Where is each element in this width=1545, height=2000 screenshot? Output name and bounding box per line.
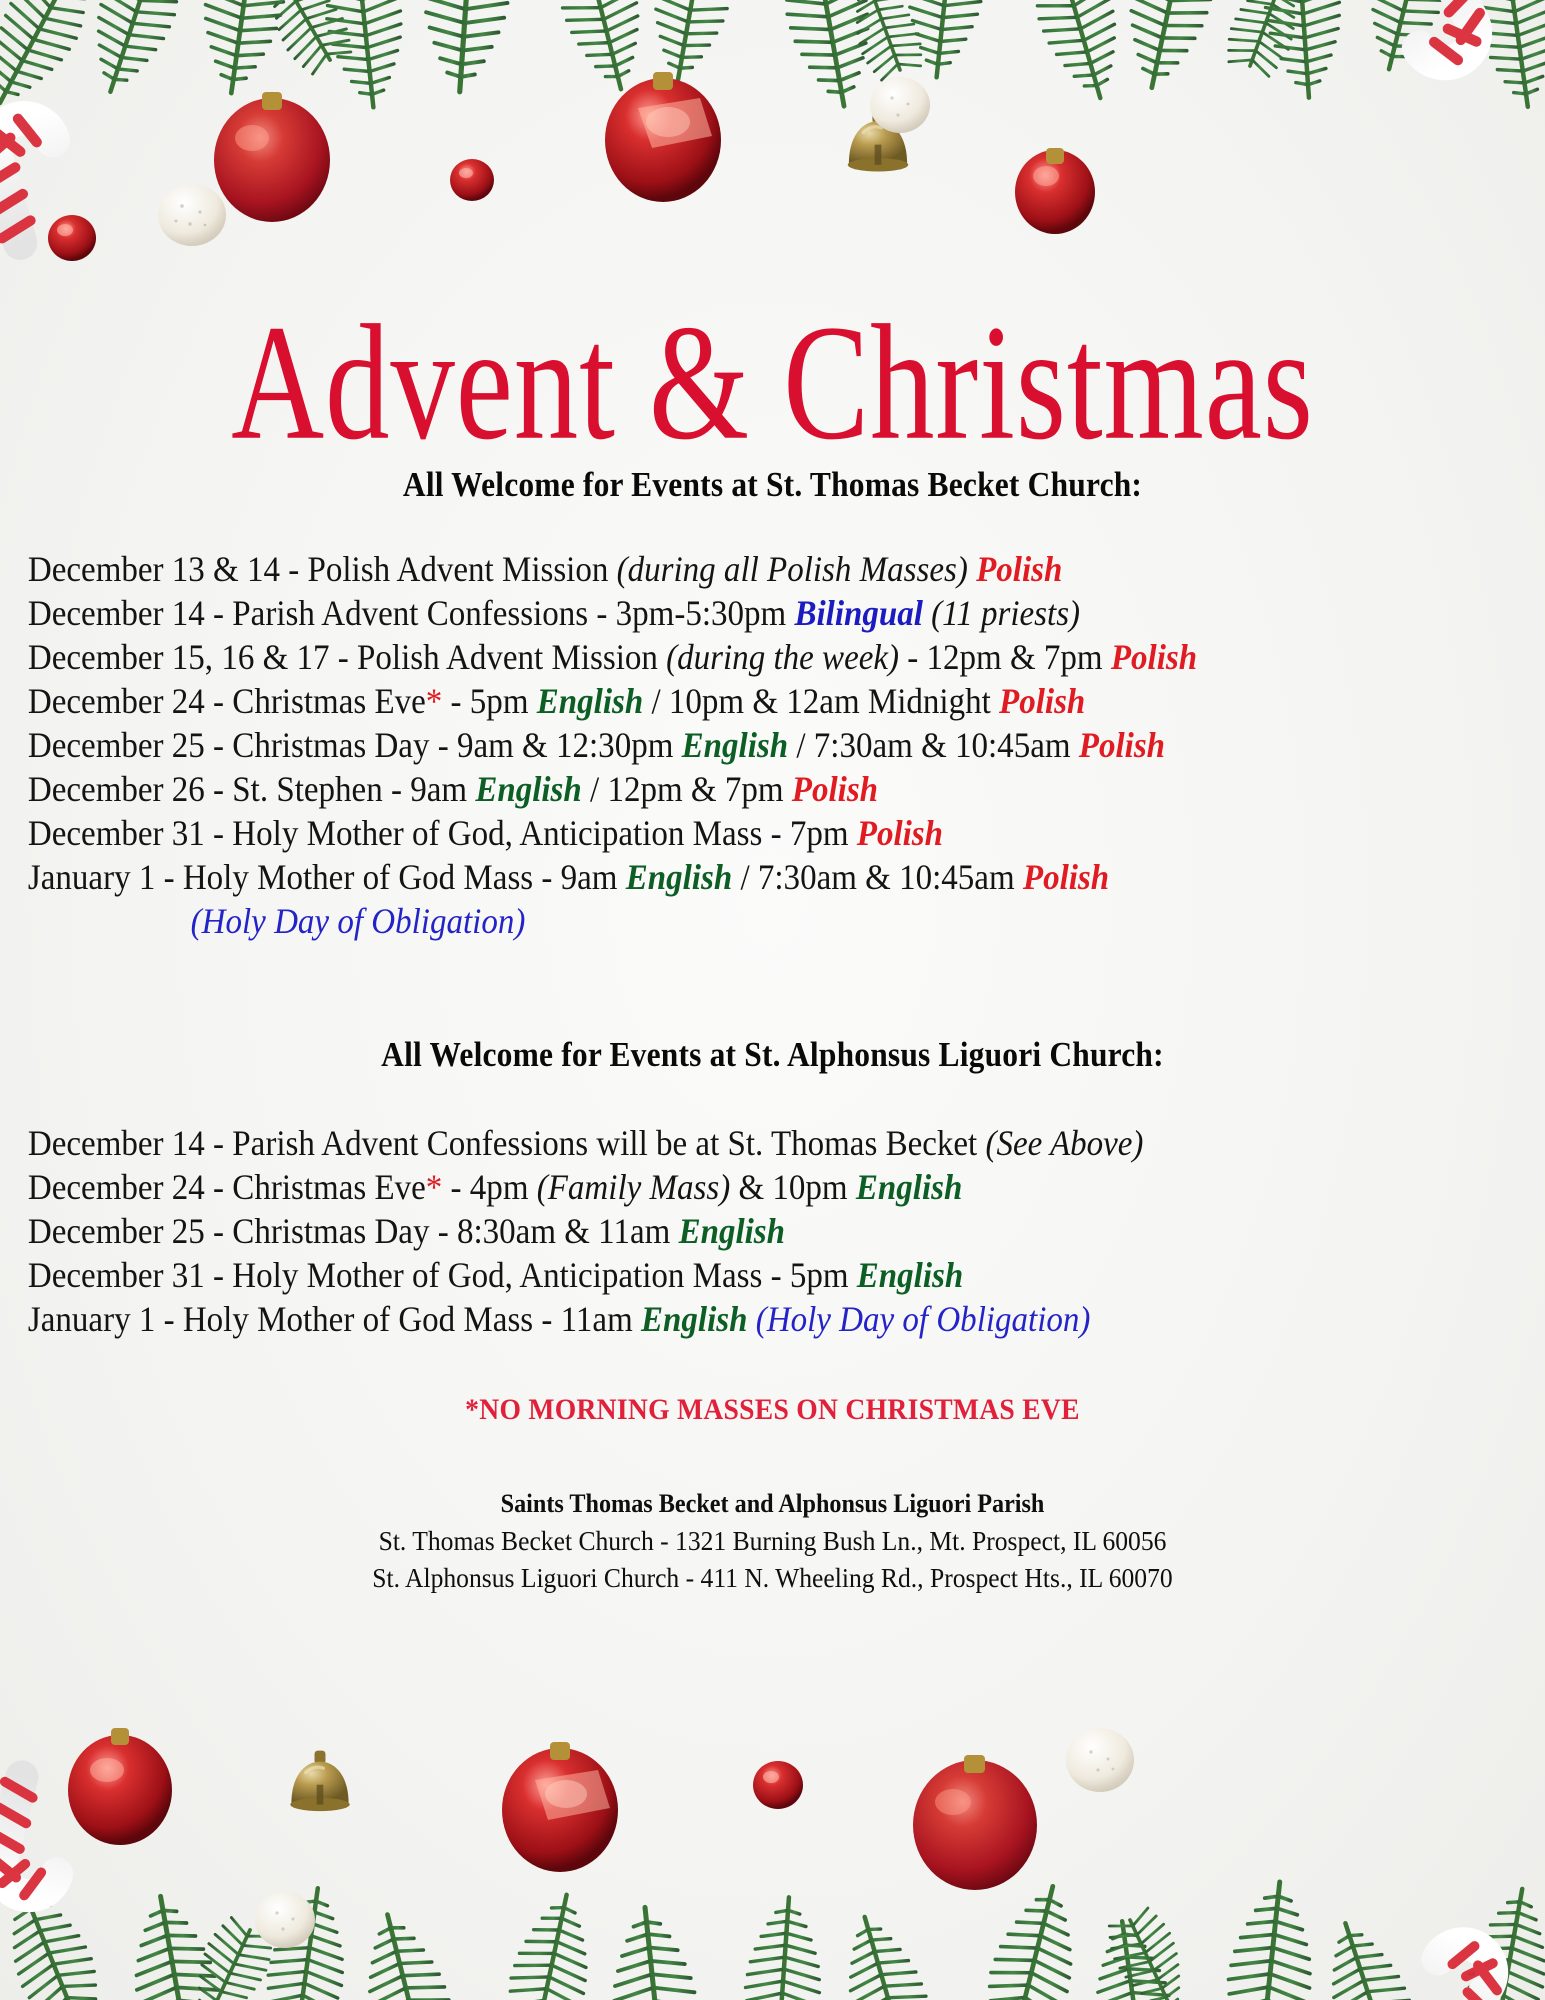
red-faceted-bauble: [502, 1742, 618, 1872]
event-line: December 14 - Parish Advent Confessions …: [0, 591, 1437, 635]
language-tag-english: English: [682, 725, 788, 765]
small-red-berry: [753, 1761, 803, 1809]
event-spacer: [968, 549, 976, 589]
event-date: December 15, 16 & 17 - Polish Advent Mis…: [28, 637, 666, 677]
event-times: / 12pm & 7pm: [582, 769, 792, 809]
event-date: December 25 - Christmas Day - 9am & 12:3…: [28, 725, 682, 765]
language-tag-polish: Polish: [1079, 725, 1165, 765]
language-tag-polish: Polish: [999, 681, 1085, 721]
language-tag-english: English: [857, 1255, 963, 1295]
language-tag-english: English: [856, 1167, 962, 1207]
no-morning-masses-alert: *NO MORNING MASSES ON CHRISTMAS EVE: [62, 1393, 1483, 1427]
address-st-alphonsus-liguori: St. Alphonsus Liguori Church - 411 N. Wh…: [54, 1559, 1491, 1596]
candy-cane: [1398, 1934, 1516, 2000]
event-note: (See Above): [985, 1123, 1143, 1163]
event-line: December 25 - Christmas Day - 9am & 12:3…: [0, 723, 1437, 767]
parish-name: Saints Thomas Becket and Alphonsus Liguo…: [54, 1485, 1491, 1522]
event-line: December 24 - Christmas Eve* - 5pm Engli…: [0, 679, 1437, 723]
event-times: / 7:30am & 10:45am: [732, 857, 1023, 897]
event-line: December 25 - Christmas Day - 8:30am & 1…: [0, 1209, 1437, 1253]
event-note: (11 priests): [923, 593, 1080, 633]
event-date: December 24 - Christmas Eve: [28, 1167, 426, 1207]
language-tag-polish: Polish: [976, 549, 1062, 589]
event-date: December 31 - Holy Mother of God, Antici…: [28, 1255, 857, 1295]
event-date: December 14 - Parish Advent Confessions …: [28, 593, 795, 633]
event-line: December 31 - Holy Mother of God, Antici…: [0, 811, 1437, 855]
red-faceted-bauble: [68, 1728, 172, 1845]
event-times: / 10pm & 12am Midnight: [643, 681, 999, 721]
holy-day-obligation-note: (Holy Day of Obligation): [28, 899, 1437, 943]
event-line: December 14 - Parish Advent Confessions …: [0, 1121, 1437, 1165]
address-st-thomas-becket: St. Thomas Becket Church - 1321 Burning …: [54, 1522, 1491, 1559]
gold-jingle-bell: [290, 1751, 349, 1812]
language-tag-polish: Polish: [792, 769, 878, 809]
event-line: December 24 - Christmas Eve* - 4pm (Fami…: [0, 1165, 1437, 1209]
event-date: December 26 - St. Stephen - 9am: [28, 769, 475, 809]
section-heading-st-thomas-becket: All Welcome for Events at St. Thomas Bec…: [77, 465, 1468, 505]
language-tag-bilingual: Bilingual: [794, 593, 922, 633]
event-list-st-alphonsus-liguori: December 14 - Parish Advent Confessions …: [0, 1121, 1545, 1341]
event-line: December 15, 16 & 17 - Polish Advent Mis…: [0, 635, 1437, 679]
event-line: December 26 - St. Stephen - 9am English …: [0, 767, 1437, 811]
language-tag-polish: Polish: [1023, 857, 1109, 897]
event-note: (during all Polish Masses): [617, 549, 968, 589]
page-title: Advent & Christmas: [62, 0, 1483, 466]
red-glitter-bauble: [913, 1755, 1037, 1890]
event-times: - 12pm & 7pm: [899, 637, 1111, 677]
bottom-decorative-border: [0, 1670, 1545, 2000]
section-heading-st-alphonsus-liguori: All Welcome for Events at St. Alphonsus …: [77, 1035, 1468, 1075]
event-date: December 24 - Christmas Eve: [28, 681, 426, 721]
white-speckled-bauble: [255, 1892, 315, 1948]
event-date: December 31 - Holy Mother of God, Antici…: [28, 813, 857, 853]
event-times: - 5pm: [442, 681, 536, 721]
christmas-flyer-page: Advent & Christmas All Welcome for Event…: [0, 0, 1545, 2000]
event-line: January 1 - Holy Mother of God Mass - 9a…: [0, 855, 1437, 943]
event-times: / 7:30am & 10:45am: [788, 725, 1079, 765]
event-note: (Family Mass): [537, 1167, 730, 1207]
language-tag-english: English: [475, 769, 581, 809]
holy-day-obligation-note: (Holy Day of Obligation): [747, 1299, 1090, 1339]
language-tag-english: English: [641, 1299, 747, 1339]
event-line: December 13 & 14 - Polish Advent Mission…: [0, 547, 1437, 591]
fir-branch: [0, 1872, 1545, 2000]
language-tag-english: English: [626, 857, 732, 897]
flyer-content: Advent & Christmas All Welcome for Event…: [0, 0, 1545, 1596]
event-times: - 4pm: [442, 1167, 536, 1207]
event-date: December 14 - Parish Advent Confessions …: [28, 1123, 986, 1163]
candy-cane: [0, 1773, 77, 1902]
event-line: December 31 - Holy Mother of God, Antici…: [0, 1253, 1437, 1297]
language-tag-english: English: [679, 1211, 785, 1251]
event-line: January 1 - Holy Mother of God Mass - 11…: [0, 1297, 1437, 1341]
event-date: January 1 - Holy Mother of God Mass - 11…: [28, 1299, 641, 1339]
language-tag-polish: Polish: [857, 813, 943, 853]
asterisk-marker: *: [426, 681, 443, 721]
event-list-st-thomas-becket: December 13 & 14 - Polish Advent Mission…: [0, 547, 1545, 943]
event-date: December 13 & 14 - Polish Advent Mission: [28, 549, 617, 589]
event-date: December 25 - Christmas Day - 8:30am & 1…: [28, 1211, 679, 1251]
event-note: (during the week): [666, 637, 899, 677]
language-tag-english: English: [537, 681, 643, 721]
asterisk-marker: *: [426, 1167, 443, 1207]
white-speckled-bauble: [1066, 1728, 1134, 1792]
language-tag-polish: Polish: [1111, 637, 1197, 677]
event-date: January 1 - Holy Mother of God Mass - 9a…: [28, 857, 626, 897]
event-times: & 10pm: [730, 1167, 856, 1207]
